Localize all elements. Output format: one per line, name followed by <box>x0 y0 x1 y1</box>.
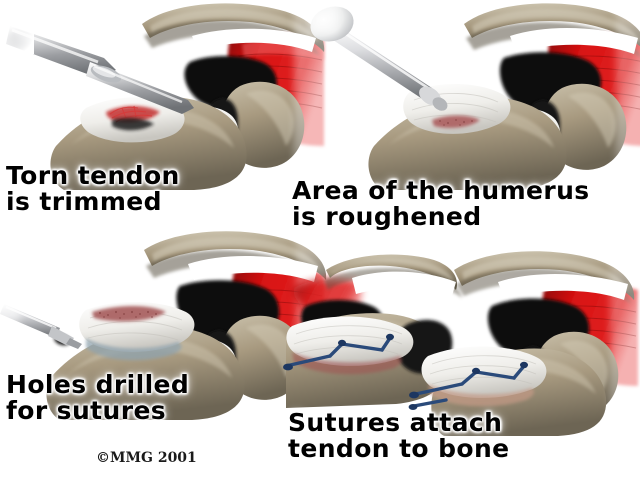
caption-sutures-attach-tendon-to-bone: Sutures attach tendon to bone <box>288 410 510 462</box>
copyright-notice: ©MMG 2001 <box>96 450 197 466</box>
burr-fade <box>308 0 338 34</box>
burr-shaft <box>330 26 432 100</box>
edge-fade <box>616 0 640 181</box>
caption-holes-drilled-for-sutures: Holes drilled for sutures <box>6 372 189 424</box>
illustration-canvas: Torn tendon is trimmed Area of the humer… <box>0 0 640 480</box>
burr-instrument <box>306 0 450 113</box>
burr-specular <box>340 30 428 88</box>
scalpel-fade <box>0 14 34 54</box>
art-bone-roughened <box>314 0 640 181</box>
art-sutures-attach <box>286 244 640 434</box>
caption-torn-tendon-is-trimmed: Torn tendon is trimmed <box>6 163 180 215</box>
edge-fade <box>610 244 640 434</box>
art-torn-tendon <box>0 0 324 181</box>
panel-area-of-humerus-is-roughened <box>314 0 640 181</box>
drill-fade <box>0 290 20 324</box>
panel-torn-tendon-is-trimmed <box>0 0 324 181</box>
caption-area-of-humerus-is-roughened: Area of the humerus is roughened <box>292 178 590 230</box>
panel-sutures-attach-tendon-to-bone <box>286 244 640 434</box>
drill-instrument <box>0 290 82 349</box>
